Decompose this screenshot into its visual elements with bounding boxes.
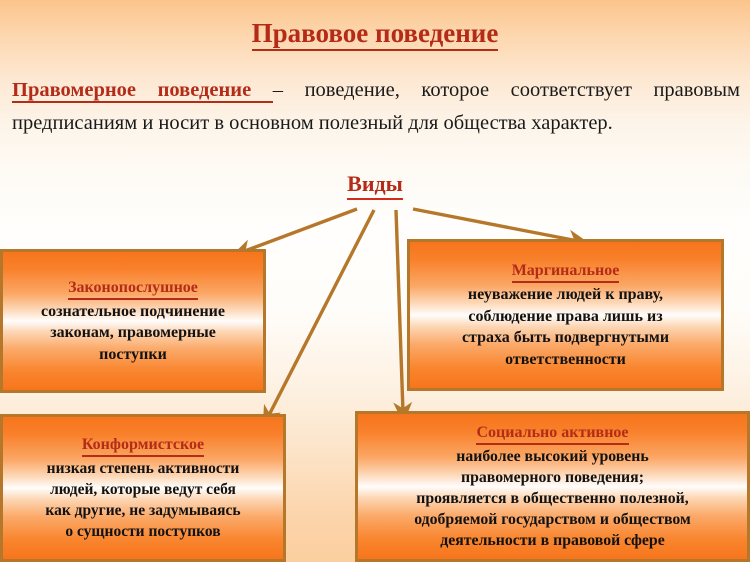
concept-box-body: низкая степень активности людей, которые… (45, 458, 240, 542)
intro-term: Правомерное поведение (12, 79, 273, 103)
branch-label-text: Виды (347, 171, 403, 200)
slide-canvas: Правовое поведение Правомерное поведение… (0, 0, 750, 562)
branch-label: Виды (0, 171, 750, 197)
concept-box-title: Конформистское (82, 434, 204, 457)
intro-paragraph: Правомерное поведение – поведение, котор… (12, 74, 740, 140)
concept-box-body: наиболее высокий уровень правомерного по… (414, 446, 691, 551)
concept-box-law-abiding[interactable]: Законопослушное сознательное подчинение … (0, 249, 266, 393)
concept-box-title: Социально активное (476, 422, 628, 445)
concept-box-body: сознательное подчинение законам, правоме… (41, 301, 225, 366)
concept-box-title: Законопослушное (68, 277, 198, 300)
arrow-to-socially-active (396, 210, 403, 412)
arrow-to-conformist (268, 210, 374, 417)
concept-box-body: неуважение людей к праву, соблюдение пра… (462, 284, 669, 370)
page-title-text: Правовое поведение (252, 18, 499, 51)
concept-box-socially-active[interactable]: Социально активное наиболее высокий уров… (355, 411, 750, 562)
concept-box-marginal[interactable]: Маргинальное неуважение людей к праву, с… (407, 239, 724, 391)
arrow-to-law-abiding (242, 209, 357, 252)
concept-box-title: Маргинальное (512, 260, 620, 283)
concept-box-conformist[interactable]: Конформистское низкая степень активности… (0, 414, 286, 562)
page-title: Правовое поведение (0, 18, 750, 49)
arrow-to-marginal (413, 209, 578, 241)
